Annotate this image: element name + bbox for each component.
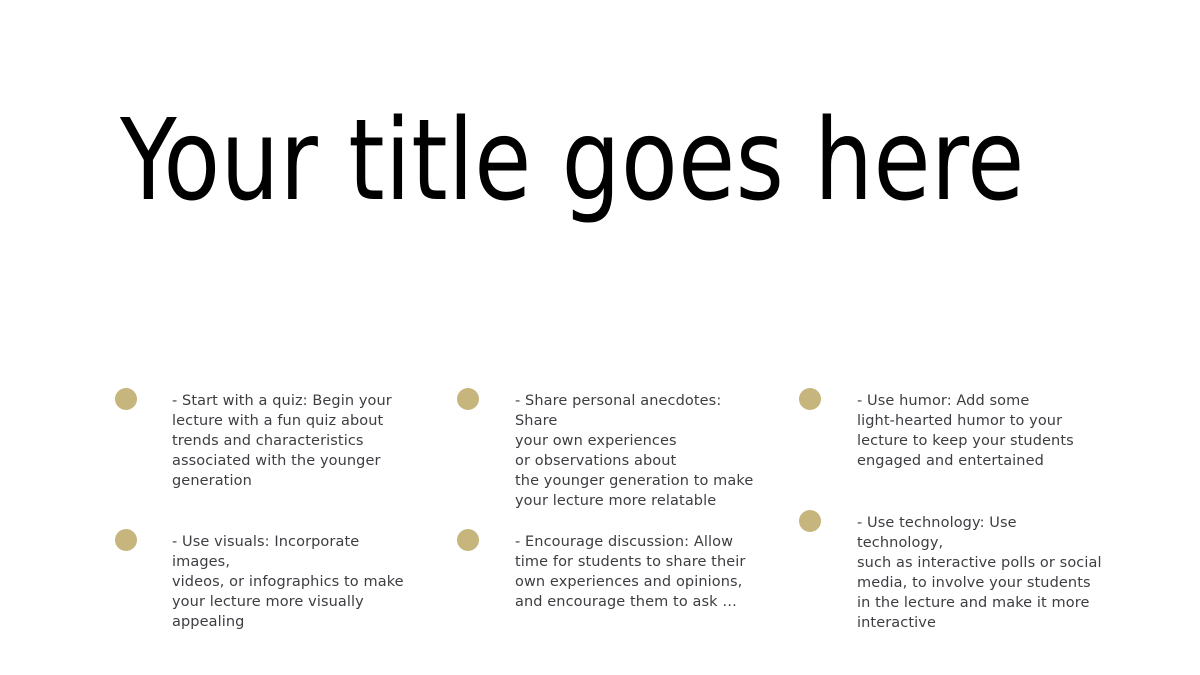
bullet-dot-icon: [799, 388, 821, 410]
bullet-grid: - Start with a quiz: Begin your lecture …: [0, 0, 1200, 675]
bullet-text: - Use technology: Use technology, such a…: [857, 513, 1102, 633]
bullet-dot-icon: [799, 510, 821, 532]
bullet-text: - Use humor: Add some light-hearted humo…: [857, 391, 1102, 471]
presentation-slide: Your title goes here - Start with a quiz…: [0, 0, 1200, 675]
bullet-dot-icon: [457, 388, 479, 410]
bullet-dot-icon: [115, 388, 137, 410]
bullet-text: - Share personal anecdotes: Share your o…: [515, 391, 765, 511]
bullet-text: - Use visuals: Incorporate images, video…: [172, 532, 412, 632]
bullet-text: - Start with a quiz: Begin your lecture …: [172, 391, 412, 491]
bullet-dot-icon: [115, 529, 137, 551]
bullet-dot-icon: [457, 529, 479, 551]
bullet-text: - Encourage discussion: Allow time for s…: [515, 532, 765, 612]
